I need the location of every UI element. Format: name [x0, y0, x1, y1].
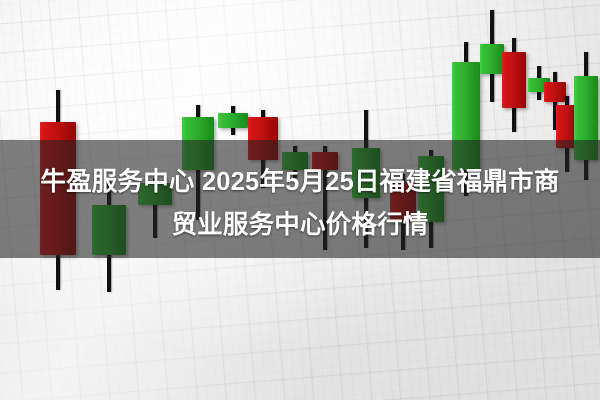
candlestick-body-down [502, 52, 526, 108]
candlestick-body-up [218, 113, 248, 128]
candlestick-banner: 牛盈服务中心 2025年5月25日福建省福鼎市商 贸业服务中心价格行情 [0, 0, 600, 400]
candlestick-body-up [480, 44, 504, 74]
watermark-title-line-2: 贸业服务中心价格行情 [0, 205, 600, 246]
watermark-title-line-1: 牛盈服务中心 2025年5月25日福建省福鼎市商 [0, 162, 600, 203]
